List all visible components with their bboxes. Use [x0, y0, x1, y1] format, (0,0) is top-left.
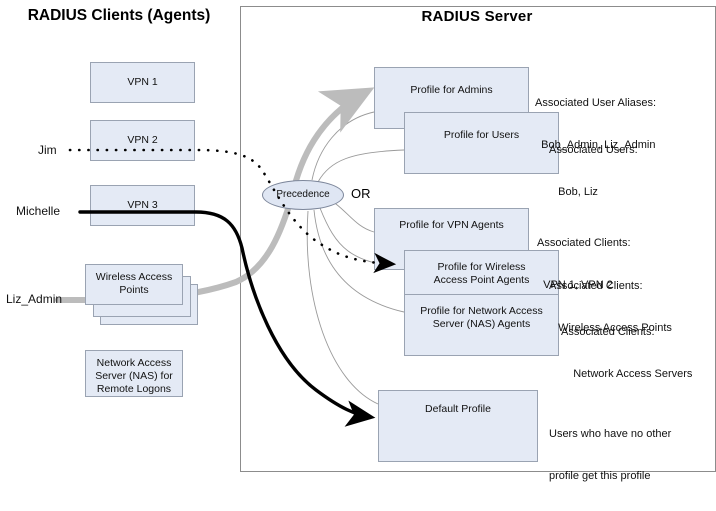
radius-clients-title-line2: (Agents) — [147, 7, 210, 24]
profile-box-label-line2: Access Point Agents — [434, 274, 530, 286]
diagram-canvas: RADIUS Server RADIUS Clients (Agents) — [0, 0, 716, 478]
annotation-line2: Network Access Servers — [561, 367, 692, 381]
annotation-nas-agents: Associated Clients: Network Access Serve… — [561, 297, 692, 409]
profile-box-label: Profile for Admins — [375, 68, 528, 97]
radius-clients-title: RADIUS Clients (Agents) — [0, 6, 238, 26]
annotation-line1: Associated Clients: — [537, 236, 631, 250]
annotation-line1: Users who have no other — [549, 427, 671, 441]
annotation-line1: Associated Users: — [549, 143, 638, 157]
annotation-line1: Associated User Aliases: — [535, 96, 656, 110]
precedence-label: Precedence — [263, 181, 343, 209]
client-box-label-line1: Network Access — [86, 351, 182, 370]
client-box-label: VPN 2 — [91, 121, 194, 147]
client-box-vpn-2[interactable]: VPN 2 — [90, 120, 195, 161]
user-label-liz-admin: Liz_Admin — [6, 292, 62, 306]
client-box-label-line1: Wireless Access — [86, 265, 182, 284]
annotation-line1: Associated Clients: — [561, 325, 692, 339]
annotation-line1: Associated Clients: — [549, 279, 672, 293]
profile-box-label: Profile for VPN Agents — [375, 209, 528, 232]
profile-box-label-line1: Profile for Network Access — [405, 295, 558, 318]
client-box-network-access-server[interactable]: Network Access Server (NAS) for Remote L… — [85, 350, 183, 397]
annotation-line2: profile get this profile — [549, 469, 671, 483]
annotation-default-profile: Users who have no other profile get this… — [549, 399, 671, 511]
profile-box-label: Default Profile — [379, 391, 537, 416]
annotation-line2: Bob, Liz — [549, 185, 638, 199]
user-label-michelle: Michelle — [16, 204, 60, 218]
profile-box-label-line1: Profile for Wireless — [405, 251, 558, 274]
user-label-jim: Jim — [38, 143, 57, 157]
client-box-label-line2: Points — [119, 284, 148, 296]
profile-box-default[interactable]: Default Profile — [378, 390, 538, 462]
client-box-vpn-1[interactable]: VPN 1 — [90, 62, 195, 103]
profile-box-network-access-server-agents[interactable]: Profile for Network Access Server (NAS) … — [404, 294, 559, 356]
client-box-label: VPN 1 — [91, 63, 194, 89]
client-box-label: VPN 3 — [91, 186, 194, 212]
profile-box-label-line2: Server (NAS) Agents — [433, 318, 530, 330]
precedence-ellipse[interactable]: Precedence — [262, 180, 344, 210]
radius-server-title: RADIUS Server — [240, 8, 714, 25]
client-box-vpn-3[interactable]: VPN 3 — [90, 185, 195, 226]
client-box-label-line2: Server (NAS) for — [95, 370, 173, 382]
or-label: OR — [351, 186, 371, 201]
client-box-wireless-access-points[interactable]: Wireless Access Points — [85, 264, 183, 305]
client-box-label-line3: Remote Logons — [97, 383, 171, 395]
radius-clients-title-line1: RADIUS Clients — [28, 7, 143, 24]
